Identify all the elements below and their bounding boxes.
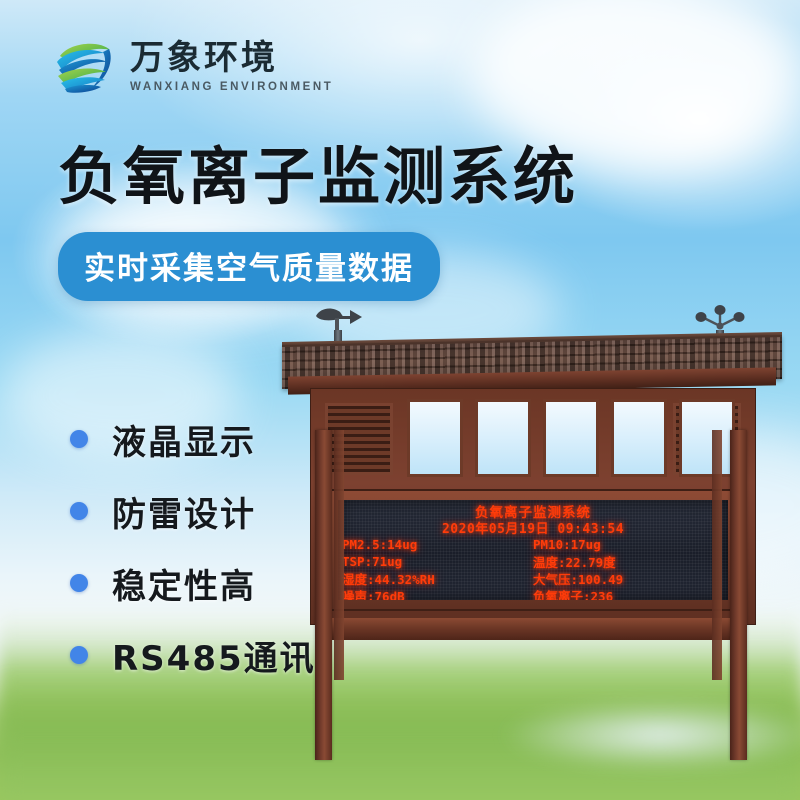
led-reading-row: 噪声:76dB 负氧离子:236 <box>342 587 724 600</box>
product-poster: 万象环境 WANXIANG ENVIRONMENT 负氧离子监测系统 实时采集空… <box>0 0 800 800</box>
led-reading-row: TSP:71ug 温度:22.79度 <box>342 553 724 570</box>
kiosk-leg-inner-left <box>334 430 344 680</box>
brand-name-en: WANXIANG ENVIRONMENT <box>130 81 333 93</box>
kiosk-leg-left <box>315 430 332 760</box>
led-reading-tsp: TSP:71ug <box>342 554 533 569</box>
feature-list: 液晶显示 防雷设计 稳定性高 RS485通讯 <box>70 408 316 696</box>
led-screen-frame: 负氧离子监测系统 2020年05月19日 09:43:54 PM2.5:14ug… <box>327 489 739 611</box>
led-reading-row: PM2.5:14ug PM10:17ug <box>342 536 724 553</box>
list-item: 稳定性高 <box>70 552 316 614</box>
led-readings: PM2.5:14ug PM10:17ug TSP:71ug 温度:22.79度 … <box>342 536 724 600</box>
monitoring-station-kiosk: 负氧离子监测系统 2020年05月19日 09:43:54 PM2.5:14ug… <box>282 300 782 760</box>
bullet-dot-icon <box>70 646 88 664</box>
led-reading-noise: 噪声:76dB <box>342 586 533 600</box>
kiosk-crossbar <box>315 618 747 640</box>
led-display-panel: 负氧离子监测系统 2020年05月19日 09:43:54 PM2.5:14ug… <box>338 500 728 600</box>
feature-label: 防雷设计 <box>112 487 256 536</box>
led-datetime: 2020年05月19日 09:43:54 <box>338 518 728 537</box>
led-reading-ions: 负氧离子:236 <box>533 586 724 600</box>
bullet-dot-icon <box>70 430 88 448</box>
page-title: 负氧离子监测系统 <box>58 146 578 208</box>
kiosk-leg-inner-right <box>712 430 722 680</box>
brand-name-cn: 万象环境 <box>130 41 333 75</box>
window-bay <box>407 399 463 477</box>
window-bay <box>611 399 667 477</box>
feature-label: 液晶显示 <box>112 415 256 464</box>
list-item: 液晶显示 <box>70 408 316 470</box>
kiosk-cabinet: 负氧离子监测系统 2020年05月19日 09:43:54 PM2.5:14ug… <box>310 388 756 625</box>
list-item: RS485通讯 <box>70 624 316 686</box>
list-item: 防雷设计 <box>70 480 316 542</box>
kiosk-leg-right <box>730 430 747 760</box>
led-reading-row: 湿度:44.32%RH 大气压:100.49 <box>342 570 724 587</box>
subtitle-badge: 实时采集空气质量数据 <box>58 232 440 301</box>
feature-label: 稳定性高 <box>112 559 256 608</box>
led-reading-pm25: PM2.5:14ug <box>342 537 533 552</box>
window-bay <box>679 399 735 477</box>
wind-vane-sensor-icon <box>310 302 366 346</box>
window-bay <box>475 399 531 477</box>
bullet-dot-icon <box>70 502 88 520</box>
window-bay <box>543 399 599 477</box>
bullet-dot-icon <box>70 574 88 592</box>
led-reading-pm10: PM10:17ug <box>533 537 724 552</box>
brand-logo: 万象环境 WANXIANG ENVIRONMENT <box>52 34 333 100</box>
globe-swirl-logo-icon <box>52 34 118 100</box>
